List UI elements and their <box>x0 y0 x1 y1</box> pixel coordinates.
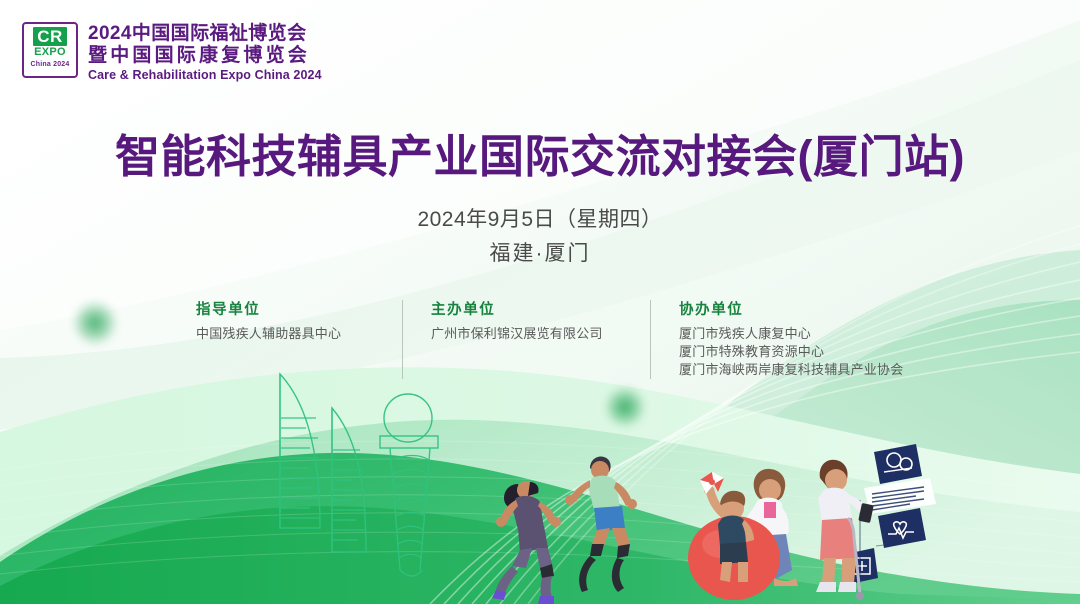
bokeh-dot <box>604 386 646 428</box>
expo-name-english: Care & Rehabilitation Expo China 2024 <box>88 67 322 83</box>
organizer-item: 厦门市海峡两岸康复科技辅具产业协会 <box>679 361 910 379</box>
event-poster: CR EXPO China 2024 2024中国国际福祉博览会 暨中国国际康复… <box>0 0 1080 604</box>
expo-wordmark: 2024中国国际福祉博览会 暨中国国际康复博览会 Care & Rehabili… <box>88 22 322 83</box>
logo-mark-year: China 2024 <box>31 60 70 69</box>
organizer-heading: 指导单位 <box>196 300 402 320</box>
skyline-line-art-icon <box>240 356 470 604</box>
organizer-heading: 协办单位 <box>679 300 910 320</box>
organizer-item: 厦门市残疾人康复中心 <box>679 325 910 343</box>
expo-name-line-1: 2024中国国际福祉博览会 <box>88 23 322 45</box>
therapy-ball-illustration <box>678 458 820 604</box>
runners-illustration <box>470 440 660 604</box>
bokeh-dot <box>72 300 118 346</box>
cr-expo-mark-icon: CR EXPO China 2024 <box>22 22 78 78</box>
event-location: 福建·厦门 <box>0 238 1080 270</box>
therapist-and-child-icon <box>678 458 820 604</box>
panel-pill-icon <box>874 444 922 484</box>
organizer-heading: 主办单位 <box>431 300 650 320</box>
organizer-item: 厦门市特殊教育资源中心 <box>679 343 910 361</box>
logo-mark-cr: CR <box>33 27 67 46</box>
assistive-tech-illustration <box>812 438 962 604</box>
logo-mark-expo: EXPO <box>34 46 66 59</box>
expo-name-line-2: 暨中国国际康复博览会 <box>88 45 322 67</box>
event-date: 2024年9月5日（星期四） <box>0 204 1080 236</box>
organizer-column-host: 主办单位 广州市保利锦汉展览有限公司 <box>402 300 650 379</box>
male-runner <box>565 457 637 592</box>
title-block: 智能科技辅具产业国际交流对接会(厦门站) 2024年9月5日（星期四） 福建·厦… <box>0 128 1080 270</box>
female-runner <box>492 481 561 604</box>
panel-heart-icon <box>878 508 926 548</box>
xiamen-skyline-illustration <box>240 356 470 604</box>
organizer-item: 中国残疾人辅助器具中心 <box>196 325 402 343</box>
organizer-column-guidance: 指导单位 中国残疾人辅助器具中心 <box>196 300 402 379</box>
expo-logo-lockup: CR EXPO China 2024 2024中国国际福祉博览会 暨中国国际康复… <box>22 22 322 83</box>
runners-with-prosthetics-icon <box>470 440 660 604</box>
panel-text-lines <box>864 478 936 514</box>
organizer-section: 指导单位 中国残疾人辅助器具中心 主办单位 广州市保利锦汉展览有限公司 协办单位… <box>196 300 910 379</box>
person-with-cane-and-panels-icon <box>812 438 962 604</box>
page-title: 智能科技辅具产业国际交流对接会(厦门站) <box>0 128 1080 186</box>
organizer-column-coorganizer: 协办单位 厦门市残疾人康复中心 厦门市特殊教育资源中心 厦门市海峡两岸康复科技辅… <box>650 300 910 379</box>
organizer-item: 广州市保利锦汉展览有限公司 <box>431 325 650 343</box>
